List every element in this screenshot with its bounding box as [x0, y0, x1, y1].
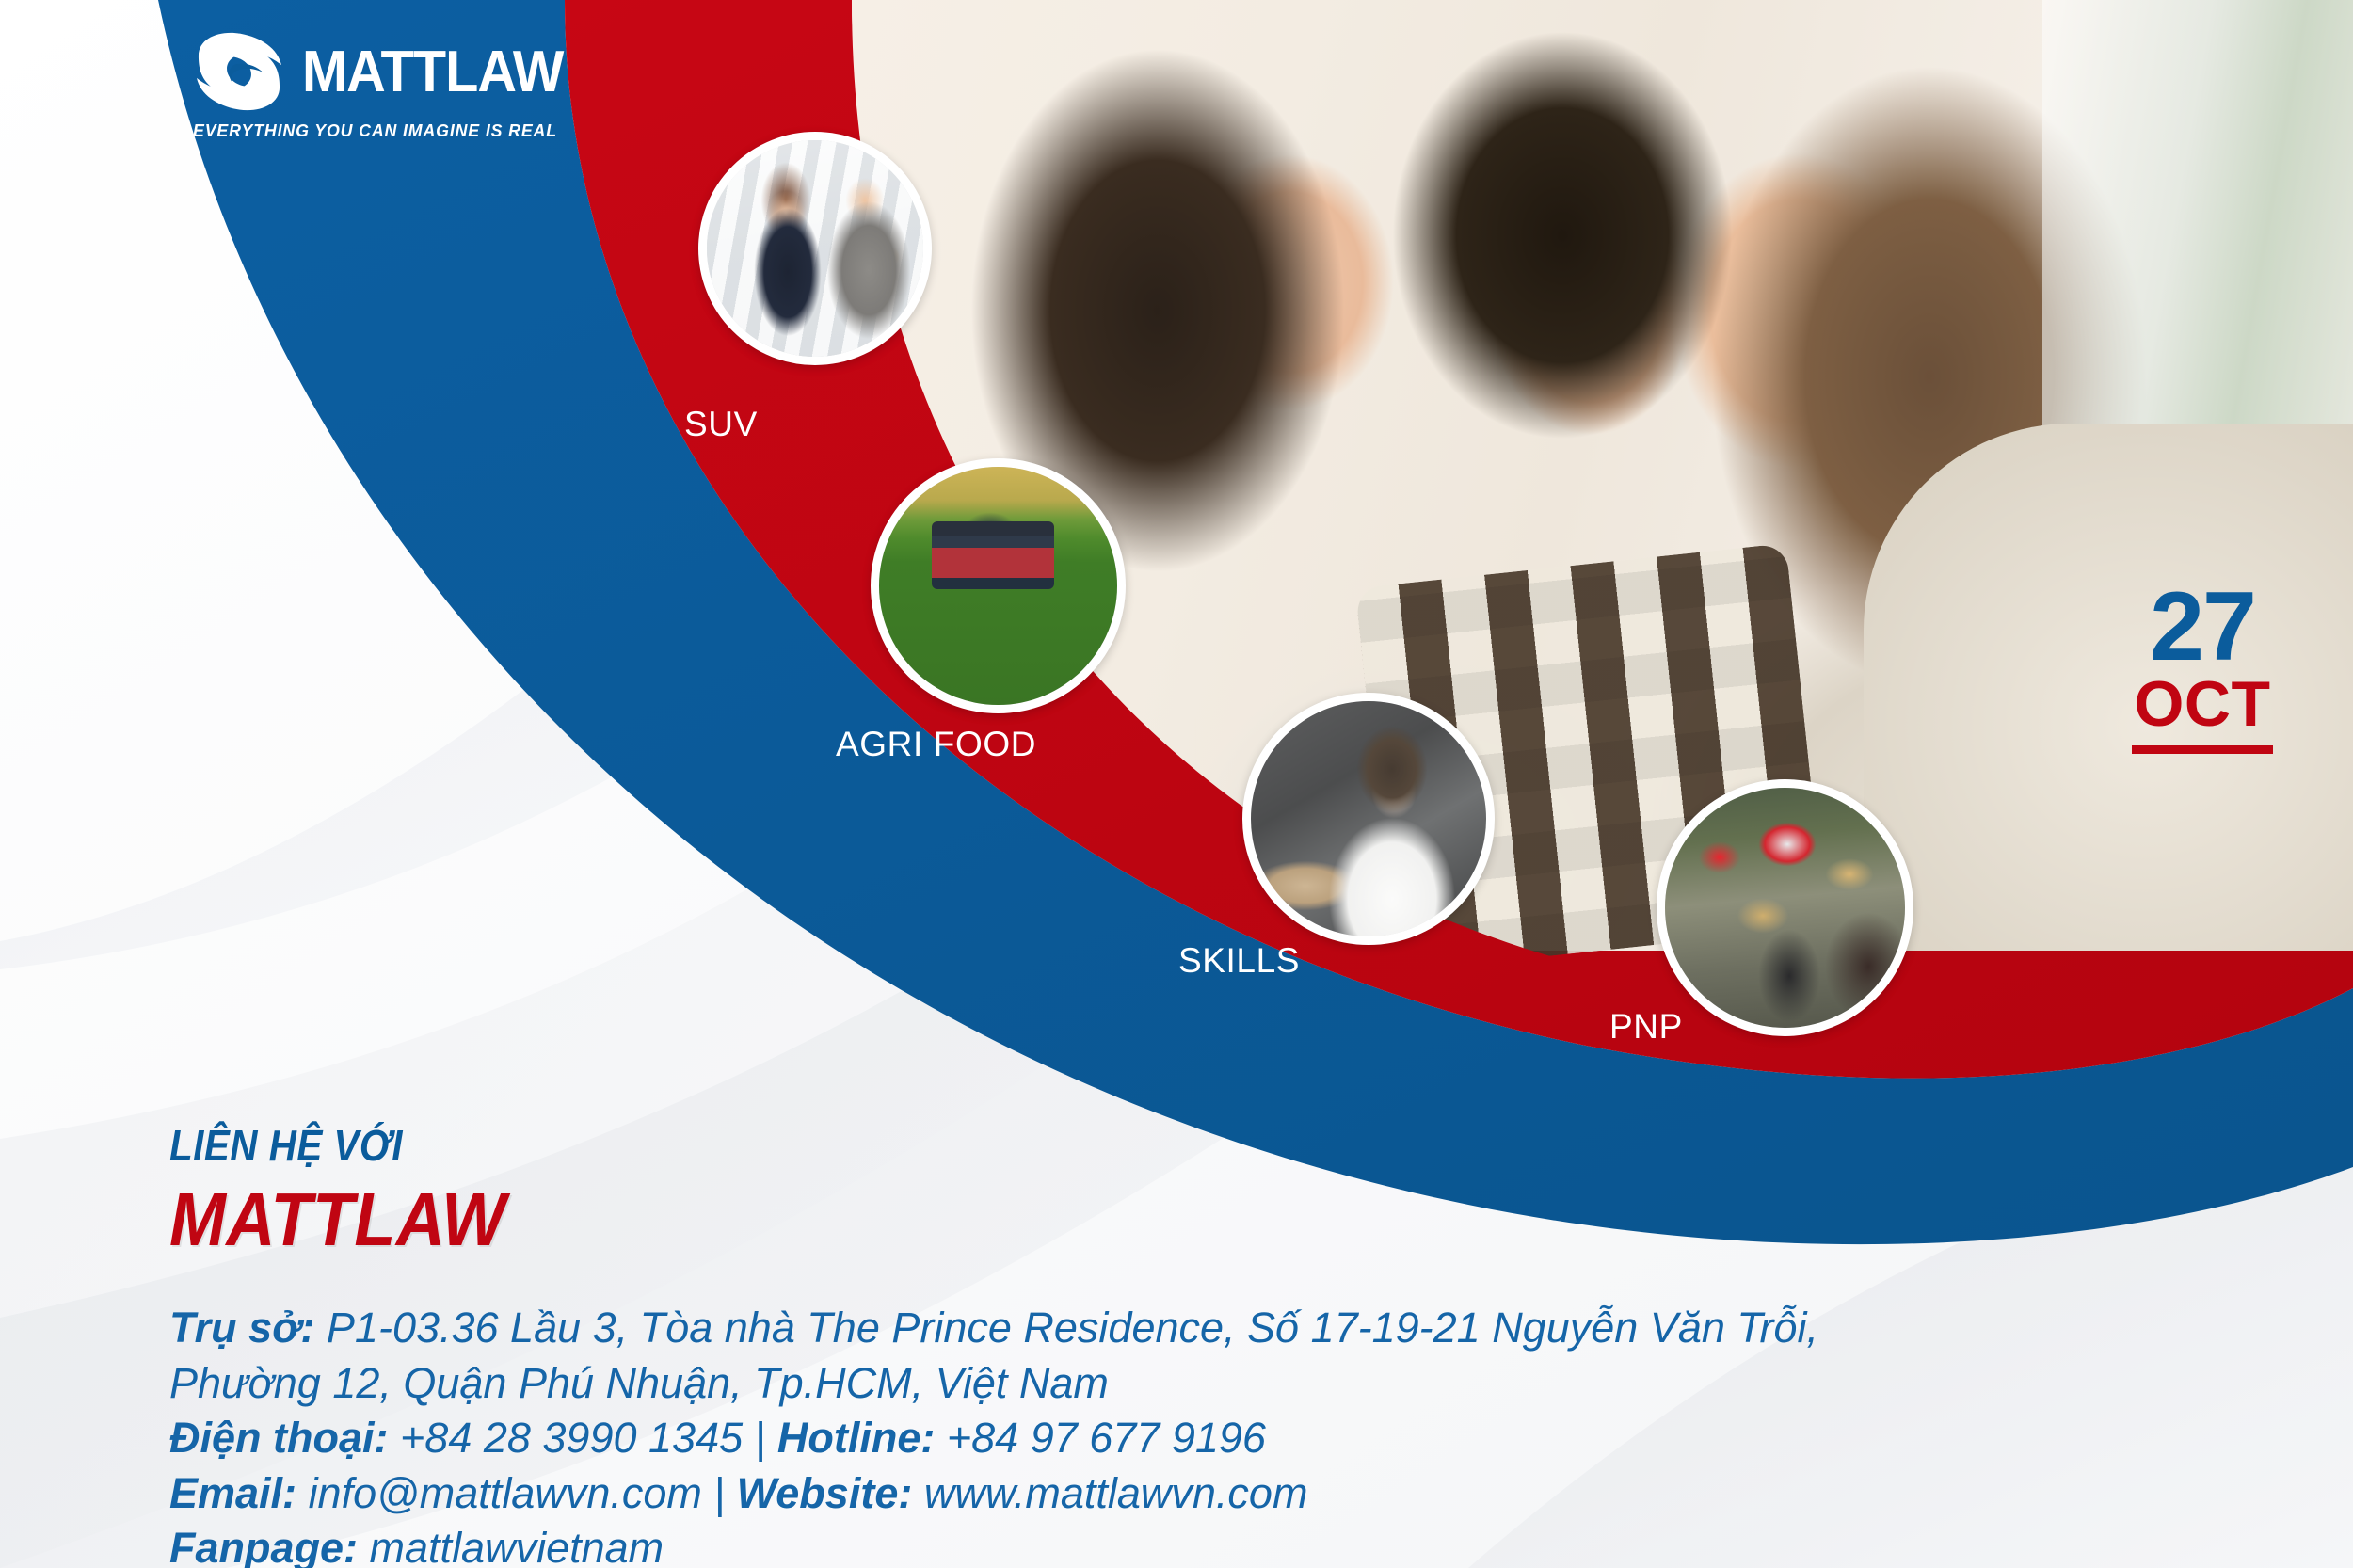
contact-value-address-2: Phường 12, Quận Phú Nhuận, Tp.HCM, Việt …: [169, 1359, 1109, 1407]
bubble-agri-food[interactable]: [871, 458, 1126, 713]
contact-label-head-office: Trụ sở:: [169, 1304, 314, 1352]
contact-label-email: Email:: [169, 1469, 296, 1517]
date-day: 27: [2108, 584, 2297, 672]
contact-row-phone: Điện thoại: +84 28 3990 1345 | Hotline: …: [169, 1411, 2221, 1466]
contact-value-head-office: P1-03.36 Lầu 3, Tòa nhà The Prince Resid…: [327, 1304, 1818, 1352]
date-month: OCT: [2108, 672, 2297, 736]
leaf-swirl-logo-icon: [193, 28, 285, 115]
contact-heading: LIÊN HỆ VỚI: [169, 1120, 1975, 1171]
contact-row-address-1: Trụ sở: P1-03.36 Lầu 3, Tòa nhà The Prin…: [169, 1301, 2221, 1356]
contact-label-fanpage: Fanpage:: [169, 1524, 358, 1568]
contact-value-phone[interactable]: +84 28 3990 1345: [400, 1414, 743, 1462]
contact-lines: Trụ sở: P1-03.36 Lầu 3, Tòa nhà The Prin…: [169, 1301, 2221, 1568]
contact-block: LIÊN HỆ VỚI MATTLAW Trụ sở: P1-03.36 Lầu…: [169, 1120, 2221, 1568]
event-date-badge: 27 OCT: [2108, 584, 2297, 754]
bubble-skills[interactable]: [1242, 693, 1495, 945]
bubble-pnp[interactable]: [1657, 779, 1913, 1036]
contact-row-address-2: Phường 12, Quận Phú Nhuận, Tp.HCM, Việt …: [169, 1356, 2221, 1412]
contact-value-website[interactable]: www.mattlawvn.com: [924, 1469, 1308, 1517]
contact-value-fanpage[interactable]: mattlawvietnam: [370, 1524, 664, 1568]
bubble-label-agri-food: AGRI FOOD: [836, 725, 1036, 764]
contact-separator-email: |: [713, 1469, 725, 1517]
contact-brand: MATTLAW: [169, 1176, 2016, 1263]
mattlaw-logo: MATTLAW EVERYTHING YOU CAN IMAGINE IS RE…: [193, 28, 598, 141]
bubble-label-skills: SKILLS: [1178, 941, 1300, 981]
canada-day-crowd-photo: [1665, 788, 1905, 1028]
logo-wordmark: MATTLAW: [302, 39, 563, 105]
contact-separator-phone: |: [755, 1414, 766, 1462]
contact-value-hotline[interactable]: +84 97 677 9196: [947, 1414, 1266, 1462]
tractor-field-photo: [879, 467, 1117, 705]
bubble-suv[interactable]: [698, 132, 932, 365]
contact-label-phone: Điện thoại:: [169, 1414, 389, 1462]
baker-bread-photo: [1251, 701, 1486, 936]
contact-value-email[interactable]: info@mattlawvn.com: [309, 1469, 702, 1517]
logo-tagline: EVERYTHING YOU CAN IMAGINE IS REAL: [193, 120, 582, 141]
bubble-label-suv: SUV: [684, 405, 758, 444]
contact-row-fanpage: Fanpage: mattlawvietnam: [169, 1521, 2221, 1568]
business-couple-photo: [707, 140, 923, 357]
contact-label-website: Website:: [737, 1469, 913, 1517]
contact-row-email-website: Email: info@mattlawvn.com | Website: www…: [169, 1466, 2221, 1522]
bubble-label-pnp: PNP: [1609, 1007, 1683, 1047]
contact-label-hotline: Hotline:: [777, 1414, 935, 1462]
poster-canvas: MATTLAW EVERYTHING YOU CAN IMAGINE IS RE…: [0, 0, 2353, 1568]
date-underline: [2132, 745, 2273, 754]
